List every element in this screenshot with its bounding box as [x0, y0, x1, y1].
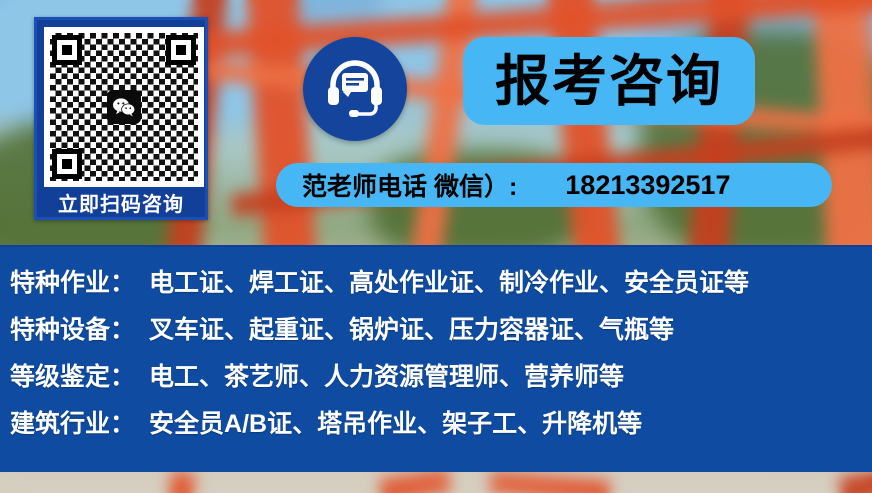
qr-finder-top-left	[52, 35, 82, 65]
category-label: 建筑行业：	[10, 404, 135, 440]
qr-code-image[interactable]	[44, 27, 204, 187]
category-row-construction-industry: 建筑行业： 安全员A/B证、塔吊作业、架子工、升降机等	[0, 404, 872, 451]
qr-finder-top-right	[166, 35, 196, 65]
category-label: 特种作业：	[10, 263, 135, 299]
category-value: 叉车证、起重证、锅炉证、压力容器证、气瓶等	[149, 310, 674, 346]
wechat-logo-icon	[107, 90, 141, 124]
phone-contact-badge[interactable]: 范老师电话 微信）: 18213392517	[276, 163, 832, 207]
category-row-special-equipment: 特种设备： 叉车证、起重证、锅炉证、压力容器证、气瓶等	[0, 310, 872, 357]
consultation-title-badge: 报考咨询	[463, 37, 755, 125]
consultation-title: 报考咨询	[495, 54, 723, 109]
qr-finder-bottom-left	[52, 149, 82, 179]
category-label: 特种设备：	[10, 310, 135, 346]
qr-code-card[interactable]: 立即扫码咨询	[34, 17, 208, 220]
category-value: 安全员A/B证、塔吊作业、架子工、升降机等	[149, 404, 642, 440]
promotional-poster: 立即扫码咨询 报考咨询 范老师电话 微信）: 18213392517 特种作业：…	[0, 0, 872, 493]
category-value: 电工证、焊工证、高处作业证、制冷作业、安全员证等	[149, 263, 749, 299]
certification-categories-panel: 特种作业： 电工证、焊工证、高处作业证、制冷作业、安全员证等 特种设备： 叉车证…	[0, 245, 872, 472]
phone-number[interactable]: 18213392517	[565, 170, 730, 201]
category-value: 电工、茶艺师、人力资源管理师、营养师等	[149, 357, 624, 393]
category-row-grade-assessment: 等级鉴定： 电工、茶艺师、人力资源管理师、营养师等	[0, 357, 872, 404]
headset-support-icon	[303, 37, 407, 141]
qr-caption: 立即扫码咨询	[44, 187, 198, 223]
phone-label: 范老师电话 微信）:	[302, 167, 517, 203]
category-label: 等级鉴定：	[10, 357, 135, 393]
category-row-special-operations: 特种作业： 电工证、焊工证、高处作业证、制冷作业、安全员证等	[0, 263, 872, 310]
